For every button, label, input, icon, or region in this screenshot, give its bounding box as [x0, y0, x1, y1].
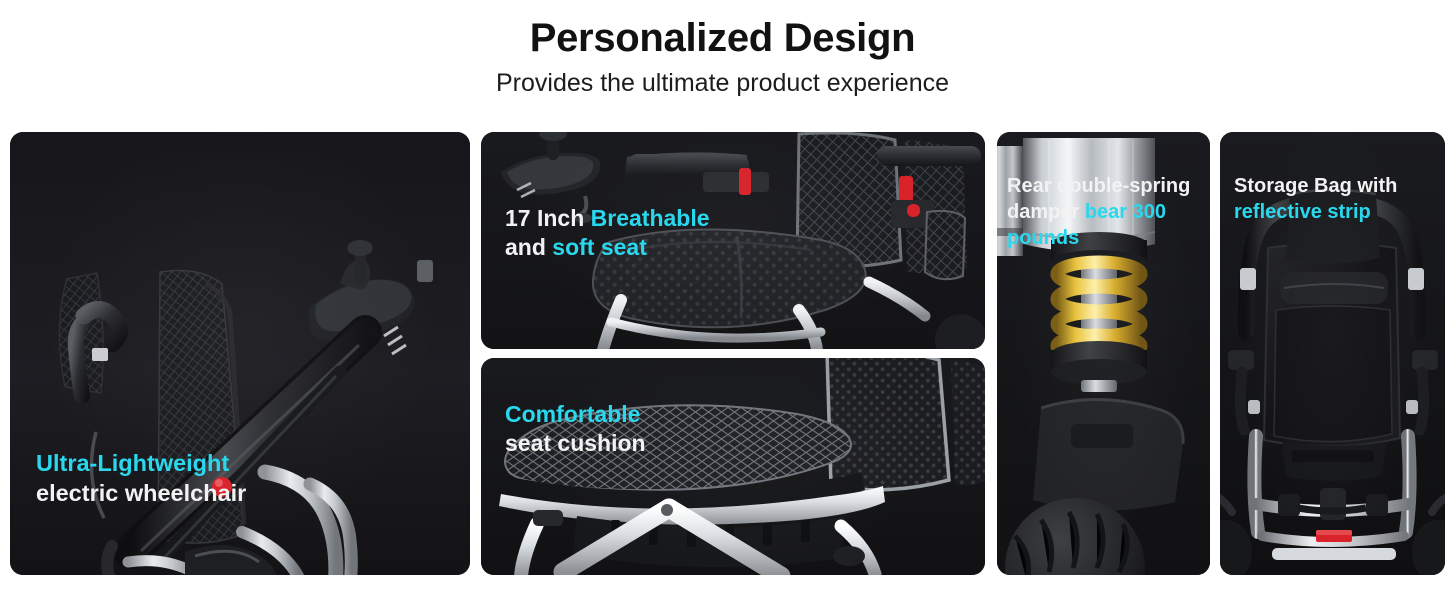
feature-card-storage-bag[interactable]: Storage Bag with reflective strip — [1220, 132, 1445, 575]
storage-bag-image — [1220, 132, 1445, 575]
folded-wheelchair-image — [10, 132, 470, 575]
page-subtitle: Provides the ultimate product experience — [0, 60, 1445, 98]
page-title: Personalized Design — [0, 0, 1445, 60]
feature-card-rear-damper[interactable]: Rear double-spring damper bear 300 pound… — [997, 132, 1210, 575]
seat-cushion-image — [481, 358, 985, 575]
banner-header: Personalized Design Provides the ultimat… — [0, 0, 1445, 125]
breathable-seat-image — [481, 132, 985, 349]
feature-card-comfortable-cushion[interactable]: Comfortable seat cushion — [481, 358, 985, 575]
feature-card-breathable-seat[interactable]: 17 Inch Breathable and soft seat — [481, 132, 985, 349]
feature-card-ultra-lightweight[interactable]: Ultra-Lightweight electric wheelchair — [10, 132, 470, 575]
product-feature-banner: Personalized Design Provides the ultimat… — [0, 0, 1445, 592]
spring-damper-image — [997, 132, 1210, 575]
